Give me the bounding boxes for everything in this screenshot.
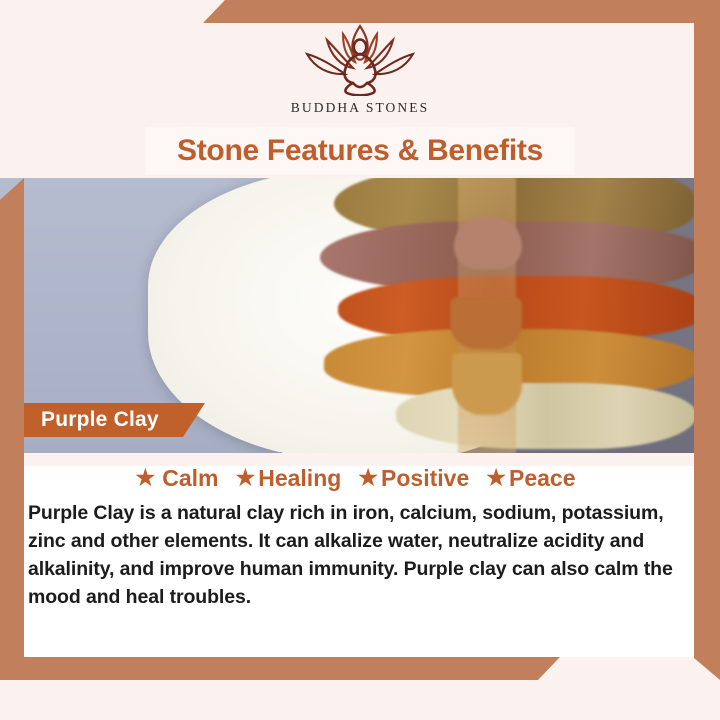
clay-powder-patch-2	[450, 297, 522, 349]
brand-logo: BUDDHA STONES	[0, 20, 720, 116]
benefit-item-peace: ★ Peace	[486, 465, 575, 492]
benefit-label: Positive	[381, 465, 469, 492]
clay-powder-patch-1	[454, 217, 522, 269]
title-banner: Stone Features & Benefits	[146, 127, 574, 175]
page-title: Stone Features & Benefits	[177, 134, 543, 168]
benefit-item-positive: ★ Positive	[358, 465, 469, 492]
clay-powder-band-cream	[396, 383, 696, 449]
benefits-list: ★ Calm ★ Healing ★ Positive ★ Peace	[17, 459, 694, 497]
product-name-label: Purple Clay	[41, 408, 159, 432]
benefit-item-healing: ★ Healing	[235, 465, 341, 492]
description-text: Purple Clay is a natural clay rich in ir…	[28, 499, 688, 611]
frame-bar-left	[0, 178, 24, 680]
star-icon: ★	[235, 467, 255, 489]
clay-powder-patch-3	[452, 353, 522, 415]
frame-bar-top	[203, 0, 720, 23]
benefit-label: Healing	[258, 465, 341, 492]
frame-bar-bottom	[0, 657, 560, 680]
benefit-label: Peace	[509, 465, 576, 492]
product-name-tag: Purple Clay	[0, 403, 205, 437]
benefit-item-calm: ★ Calm	[136, 465, 219, 492]
lotus-meditation-icon	[285, 20, 435, 96]
star-icon: ★	[136, 467, 156, 489]
star-icon: ★	[486, 467, 506, 489]
brand-name: BUDDHA STONES	[291, 100, 429, 116]
clay-plate	[148, 175, 580, 453]
star-icon: ★	[358, 467, 378, 489]
frame-bar-right	[694, 0, 720, 680]
benefit-label: Calm	[162, 465, 218, 492]
